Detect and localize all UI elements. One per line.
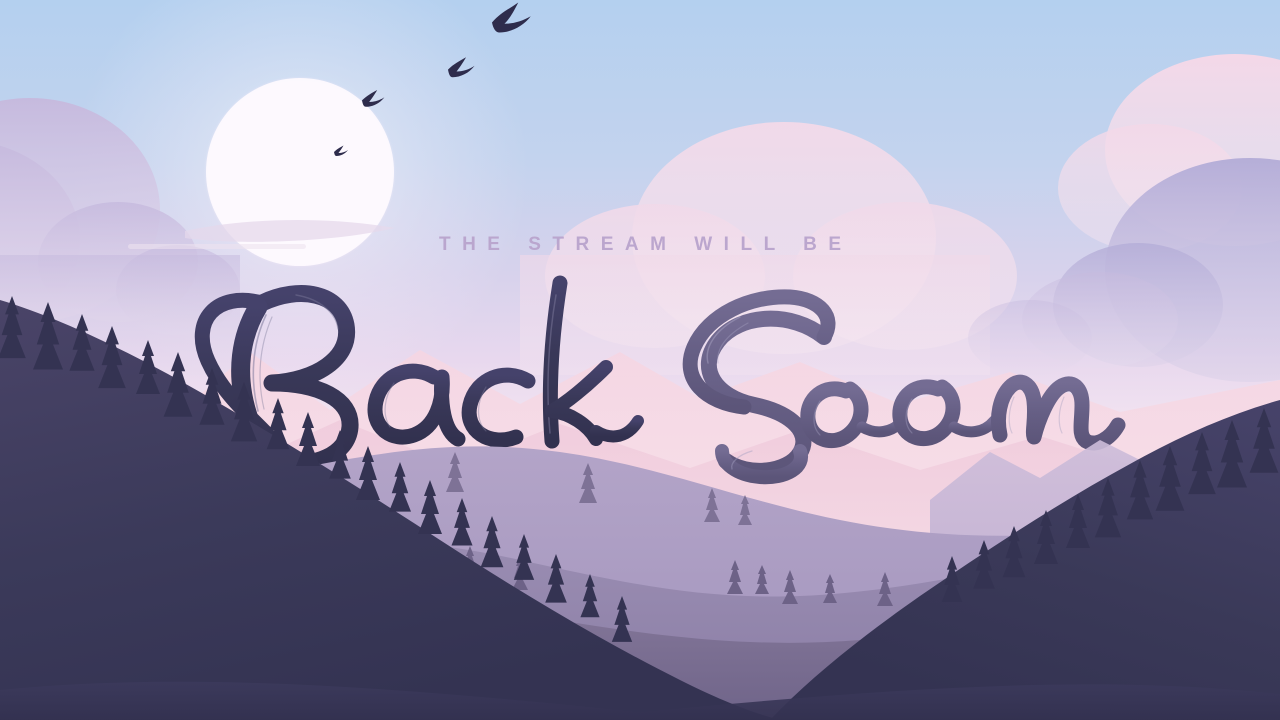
trees-left-ridge [0,296,632,642]
stream-break-overlay: THE STREAM WILL BE [0,0,1280,720]
trees-right-ridge [942,408,1279,602]
forest-foreground-layer [0,0,1280,720]
